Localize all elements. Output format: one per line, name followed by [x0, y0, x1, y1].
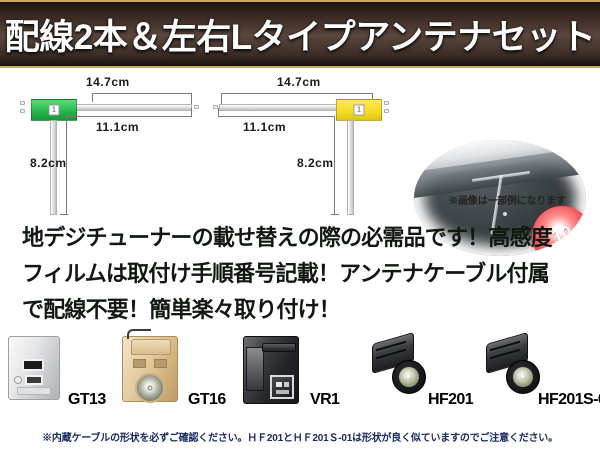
gt13-latch-tab [17, 387, 51, 395]
left-dim-111-line [66, 116, 192, 117]
vr1-contact-face [270, 375, 294, 399]
description-line-3: で配線不要！簡単楽々取り付け！ [22, 292, 582, 328]
vr1-connector-image [243, 336, 299, 404]
gt13-connector-image [8, 336, 60, 400]
connector-label-hf201s01: HF201S-01 [538, 391, 600, 409]
right-dim-82-tick-bottom [331, 214, 339, 215]
hf201s01-center-pin [520, 374, 526, 380]
left-pad-number: 1 [49, 105, 60, 116]
left-dim-111-label: 11.1cm [96, 120, 139, 134]
vr1-latch-lever [262, 343, 296, 352]
right-dim-147-label: 14.7cm [277, 75, 321, 89]
right-pad-number: 1 [354, 105, 365, 116]
connector-item-vr1: VR1 [236, 334, 364, 422]
left-dim-82-tick-bottom [60, 214, 68, 215]
banner-title: 配線2本＆左右Lタイプアンテナセット [5, 9, 595, 60]
gt16-connector-image [122, 336, 178, 402]
left-film-horizontal-arm [60, 104, 192, 111]
gt16-latch-arm [131, 339, 171, 355]
right-dim-111-line [218, 116, 335, 117]
connector-label-hf201: HF201 [428, 391, 473, 409]
left-antenna-figure: 14.7cm 1 11.1cm 8.2cm [8, 68, 208, 215]
left-terminal-tip [194, 105, 199, 109]
header-banner: 配線2本＆左右Lタイプアンテナセット [0, 0, 600, 68]
right-terminal-upper [384, 101, 389, 105]
connector-label-vr1: VR1 [310, 391, 339, 409]
connector-item-hf201s01: HF201S-01 [480, 334, 600, 422]
vr1-pin-3 [276, 390, 289, 394]
left-connector-pad: 1 [31, 99, 77, 121]
footer-note: ※内蔵ケーブルの形状を必ずご確認ください。ＨＦ201とＨＦ201Ｓ-01は形状が… [0, 429, 600, 444]
gt13-slot-secondary [25, 375, 43, 385]
gt13-alignment-nub [14, 376, 22, 384]
vr1-side-housing [246, 347, 264, 391]
left-dim-147-line [92, 93, 192, 94]
gt13-slot-primary [22, 359, 44, 371]
right-film-horizontal-arm [219, 104, 351, 111]
left-dim-82-label: 8.2cm [30, 156, 67, 170]
gt16-center-pin [148, 386, 153, 391]
hf201s01-connector-image [484, 336, 542, 398]
hf201-connector-image [370, 336, 428, 398]
product-banner-image: 配線2本＆左右Lタイプアンテナセット 14.7cm 1 1 [0, 0, 600, 450]
connector-item-gt13: GT13 [0, 334, 116, 422]
left-dim-111-tick-end [191, 108, 192, 117]
photo-inset-caption: ※画像は一部例になります [418, 192, 596, 207]
description-line-2: フィルムは取付け手順番号記載！アンテナケーブル付属 [22, 256, 582, 292]
right-dim-147-line [221, 93, 373, 94]
hf201-center-pin [406, 374, 412, 380]
connector-label-gt13: GT13 [68, 391, 106, 409]
connector-item-gt16: GT16 [116, 334, 236, 422]
right-connector-pad: 1 [336, 99, 382, 121]
description-block: 地デジチューナーの載せ替えの際の必需品です！高感度 フィルムは取付け手順番号記載… [22, 220, 582, 328]
vr1-pin-1 [276, 382, 282, 387]
right-dim-111-tick-start [218, 108, 219, 117]
gt16-vent-left [133, 359, 146, 368]
right-terminal-lower [384, 109, 389, 113]
film-connector-dot [503, 212, 507, 216]
right-dim-111-label: 11.1cm [243, 120, 286, 134]
hf201-coax-head [392, 360, 426, 394]
connector-item-hf201: HF201 [364, 334, 480, 422]
connector-label-gt16: GT16 [188, 391, 226, 409]
left-terminal-upper [20, 101, 25, 105]
left-terminal-lower [20, 109, 25, 113]
vr1-pin-2 [284, 382, 289, 387]
left-dim-147-tick-start [92, 93, 93, 102]
description-line-1: 地デジチューナーの載せ替えの際の必需品です！高感度 [22, 220, 582, 256]
connector-type-row: GT13 GT16 [0, 334, 600, 422]
right-film-vertical-arm [347, 120, 354, 215]
left-dim-147-label: 14.7cm [86, 75, 130, 89]
hf201s01-coax-head [506, 360, 540, 394]
right-dim-82-label: 8.2cm [297, 156, 334, 170]
right-dim-82-line [334, 123, 335, 215]
right-antenna-figure: 14.7cm 1 11.1cm 8.2cm [205, 68, 405, 215]
gt16-coax-ring [135, 373, 165, 403]
gt16-cable [127, 329, 151, 339]
gt16-vent-right [154, 359, 167, 368]
